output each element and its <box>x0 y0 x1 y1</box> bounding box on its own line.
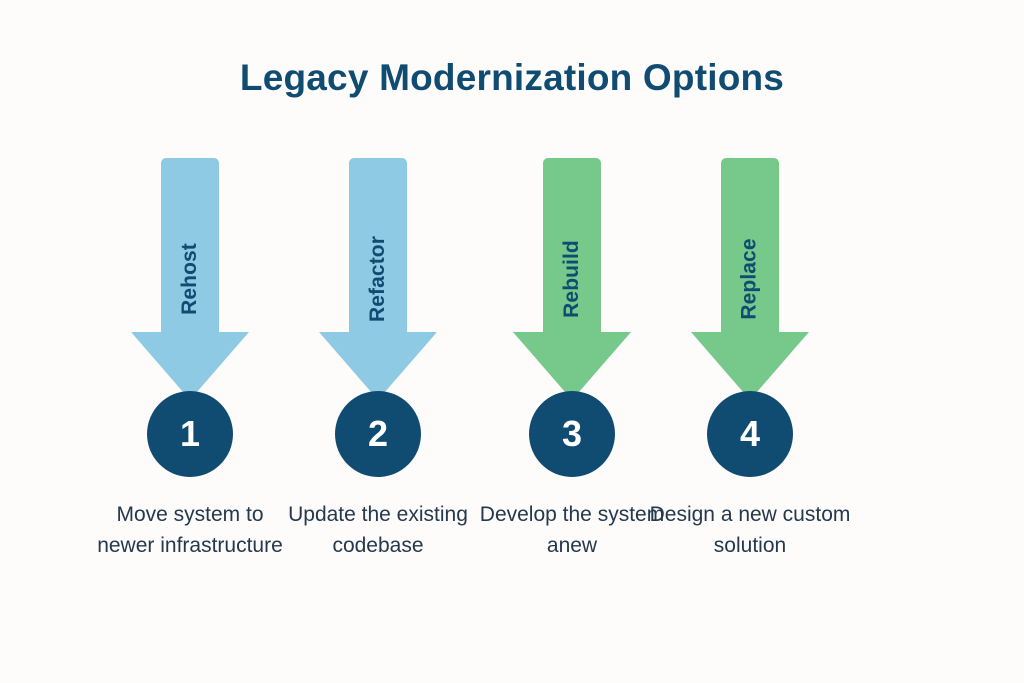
infographic-canvas: Legacy Modernization Options Rehost 1 Mo… <box>0 0 1024 683</box>
down-arrow-icon-4 <box>650 155 850 403</box>
down-arrow-icon-1 <box>90 155 290 403</box>
step-number-3: 3 <box>562 416 582 452</box>
arrow-shape-3 <box>513 158 631 400</box>
arrow-shape-4 <box>691 158 809 400</box>
step-badge-3: 3 <box>529 391 615 477</box>
arrow-shape-2 <box>319 158 437 400</box>
option-caption-4: Design a new custom solution <box>646 499 854 561</box>
option-column-4: Replace 4 Design a new custom solution <box>650 0 850 683</box>
step-badge-2: 2 <box>335 391 421 477</box>
option-column-3: Rebuild 3 Develop the system anew <box>472 0 672 683</box>
option-column-1: Rehost 1 Move system to newer infrastruc… <box>90 0 290 683</box>
step-badge-4: 4 <box>707 391 793 477</box>
option-caption-3: Develop the system anew <box>468 499 676 561</box>
option-caption-1: Move system to newer infrastructure <box>86 499 294 561</box>
option-column-2: Refactor 2 Update the existing codebase <box>278 0 478 683</box>
step-number-4: 4 <box>740 416 760 452</box>
down-arrow-icon-3 <box>472 155 672 403</box>
step-badge-1: 1 <box>147 391 233 477</box>
arrow-shape-1 <box>131 158 249 400</box>
option-caption-2: Update the existing codebase <box>274 499 482 561</box>
step-number-2: 2 <box>368 416 388 452</box>
step-number-1: 1 <box>180 416 200 452</box>
down-arrow-icon-2 <box>278 155 478 403</box>
